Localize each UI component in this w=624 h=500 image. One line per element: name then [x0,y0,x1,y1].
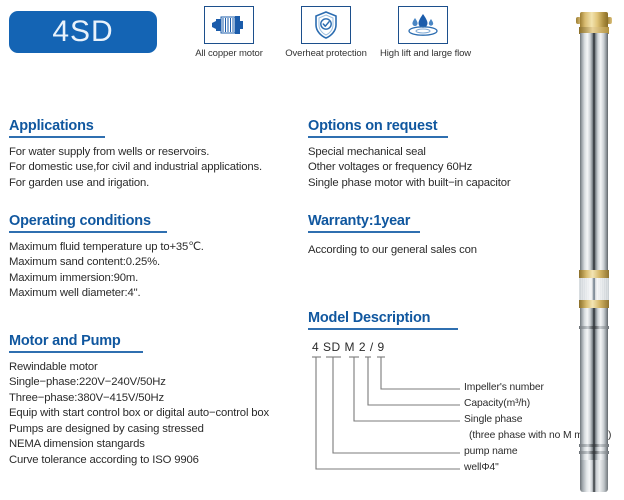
section-options-on-request: Options on request Special mechanical se… [308,118,558,191]
list-item: According to our general sales con [308,243,558,259]
section-lines: For water supply from wells or reservoir… [9,145,299,192]
water-drops-icon [405,12,441,38]
legend-single-phase: Single phase [464,414,522,425]
list-item: Single−phase:220V−240V/50Hz [9,375,299,391]
pump-ring-3 [579,451,609,454]
list-item: Maximum fluid temperature up to+35℃. [9,240,299,256]
list-item: Maximum immersion:90m. [9,271,299,287]
legend-pump-name: pump name [464,446,517,457]
pump-brass-band-upper [579,270,609,278]
list-item: Other voltages or frequency 60Hz [308,160,558,176]
feature-all-copper-motor: All copper motor [186,6,272,59]
section-lines: Special mechanical seal Other voltages o… [308,145,558,192]
title-underline [308,136,448,138]
leader-lines [308,340,608,480]
section-title: Options on request [308,118,558,134]
model-badge: 4SD [9,11,157,53]
list-item: Special mechanical seal [308,145,558,161]
pump-brass-band-lower [579,300,609,308]
list-item: Three−phase:380V−415V/50Hz [9,391,299,407]
list-item: For garden use and irigation. [9,176,299,192]
legend-impellers-number: Impeller's number [464,382,544,393]
title-underline [9,231,167,233]
shield-check-icon [314,11,338,39]
feature-label: All copper motor [186,48,272,59]
icon-frame [204,6,254,44]
section-warranty: Warranty:1year According to our general … [308,213,558,258]
section-title: Model Description [308,310,608,326]
list-item: Single phase motor with built−in capacit… [308,176,558,192]
section-lines: According to our general sales con [308,243,558,259]
section-title: Motor and Pump [9,333,299,349]
list-item: Maximum sand content:0.25%. [9,255,299,271]
list-item: Rewindable motor [9,360,299,376]
list-item: For water supply from wells or reservoir… [9,145,299,161]
list-item: Maximum well diameter:4". [9,286,299,302]
section-title: Applications [9,118,299,134]
title-underline [9,351,143,353]
submersible-pump-photo [568,8,620,490]
feature-label: High lift and large flow [380,48,466,59]
section-title: Warranty:1year [308,213,558,229]
section-operating-conditions: Operating conditions Maximum fluid tempe… [9,213,299,302]
feature-label: Overheat protection [283,48,369,59]
title-underline [9,136,105,138]
section-applications: Applications For water supply from wells… [9,118,299,191]
legend-well-diameter: wellΦ4" [464,462,499,473]
feature-overheat-protection: Overheat protection [283,6,369,59]
section-model-description: Model Description 4 SD M 2 / 9 [308,310,608,330]
pump-stainless-body [580,33,608,465]
list-item: For domestic use,for civil and industria… [9,160,299,176]
list-item: Pumps are designed by casing stressed [9,422,299,438]
list-item: Curve tolerance according to ISO 9906 [9,453,299,469]
pump-knurled-section [579,278,609,300]
model-code-diagram: 4 SD M 2 / 9 [308,340,608,480]
feature-icons: All copper motor Overheat protection [186,6,466,59]
feature-high-lift-large-flow: High lift and large flow [380,6,466,59]
title-underline [308,328,458,330]
section-lines: Rewindable motor Single−phase:220V−240V/… [9,360,299,469]
icon-frame [398,6,448,44]
icon-frame [301,6,351,44]
pump-ring-2 [579,444,609,447]
legend-capacity: Capacity(m³/h) [464,398,530,409]
pump-base-section [580,460,608,492]
product-spec-sheet: 4SD All [0,0,624,500]
pump-ring-1 [579,326,609,329]
section-title: Operating conditions [9,213,299,229]
list-item: Equip with start control box or digital … [9,406,299,422]
title-underline [308,231,420,233]
motor-icon [212,14,246,36]
section-motor-and-pump: Motor and Pump Rewindable motor Single−p… [9,333,299,468]
section-lines: Maximum fluid temperature up to+35℃. Max… [9,240,299,302]
list-item: NEMA dimension stangards [9,437,299,453]
